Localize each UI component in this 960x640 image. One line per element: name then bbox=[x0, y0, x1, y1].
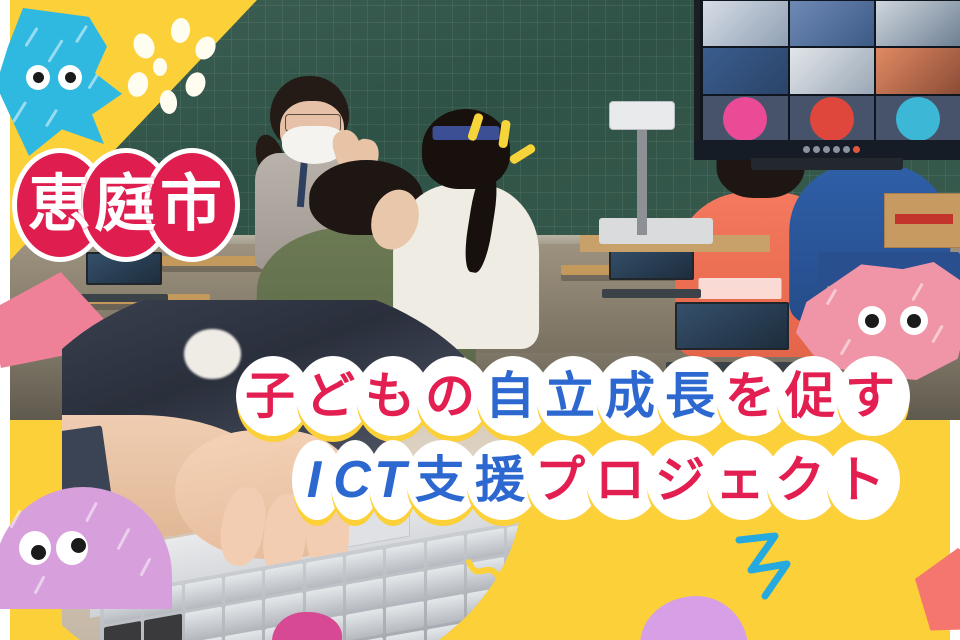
title-char: 自 bbox=[476, 356, 544, 436]
purple-arch-eye bbox=[19, 531, 51, 565]
title-line-2: I C T 支 援 プ ロ ジ ェ ク ト bbox=[292, 440, 952, 520]
badge-character: 市 bbox=[152, 153, 230, 257]
title-char: 促 bbox=[776, 356, 844, 436]
student-figure bbox=[390, 109, 542, 344]
title-char: プ bbox=[526, 440, 594, 520]
title-char: ジ bbox=[646, 440, 714, 520]
video-tile-avatar bbox=[876, 96, 960, 142]
title-char: T bbox=[368, 440, 412, 520]
title-line-1: 子 ど も の 自 立 成 長 を 促 す bbox=[236, 356, 952, 436]
video-tile bbox=[790, 1, 875, 47]
thumbnail-canvas: 恵 庭 市 子 ど も の 自 立 成 長 を 促 す I C T bbox=[0, 0, 960, 640]
video-tile bbox=[876, 48, 960, 94]
title-char: 援 bbox=[466, 440, 534, 520]
title-char: 長 bbox=[656, 356, 724, 436]
badge-character-label: 市 bbox=[160, 174, 222, 236]
cardboard-box bbox=[884, 193, 960, 248]
student-laptop bbox=[86, 252, 162, 302]
white-highlight bbox=[184, 329, 240, 379]
document-camera-head bbox=[609, 101, 676, 130]
title-char: ど bbox=[296, 356, 364, 436]
city-badge: 恵 庭 市 bbox=[14, 152, 224, 258]
video-conference-toolbar bbox=[694, 140, 960, 159]
video-tile-avatar bbox=[703, 96, 788, 142]
title-char: ク bbox=[766, 440, 834, 520]
title-char: 支 bbox=[406, 440, 474, 520]
video-tile bbox=[790, 48, 875, 94]
title-char: も bbox=[356, 356, 424, 436]
yellow-squiggle-mark bbox=[466, 556, 512, 590]
pink-cloud-eye bbox=[900, 306, 928, 335]
video-tile bbox=[703, 48, 788, 94]
title-char: ロ bbox=[586, 440, 654, 520]
title-char: す bbox=[836, 356, 904, 436]
student-hairband bbox=[433, 126, 500, 140]
title-char: 立 bbox=[536, 356, 604, 436]
title-char: の bbox=[416, 356, 484, 436]
badge-character-label: 庭 bbox=[94, 174, 156, 236]
title-char: 成 bbox=[596, 356, 664, 436]
document-camera-base bbox=[599, 218, 713, 243]
pink-cloud-eye bbox=[858, 306, 886, 335]
badge-character-label: 恵 bbox=[28, 174, 90, 236]
purple-arch-eye bbox=[56, 531, 88, 565]
blue-zigzag-mark bbox=[735, 530, 807, 602]
video-conference-display bbox=[694, 0, 960, 151]
title-char: ト bbox=[826, 440, 894, 520]
title-char: を bbox=[716, 356, 784, 436]
blue-star-eye bbox=[58, 65, 82, 90]
blue-star-eye bbox=[26, 65, 50, 90]
student-head bbox=[422, 109, 510, 189]
title-char: 子 bbox=[236, 356, 304, 436]
title-char: C bbox=[330, 440, 374, 520]
video-tile bbox=[703, 1, 788, 47]
video-tile bbox=[876, 1, 960, 47]
video-tile-avatar bbox=[790, 96, 875, 142]
display-stand bbox=[751, 158, 903, 171]
title-char: ェ bbox=[706, 440, 774, 520]
shirt-print bbox=[699, 278, 781, 300]
main-title: 子 ど も の 自 立 成 長 を 促 す I C T 支 援 プ ロ ジ ェ … bbox=[236, 356, 952, 524]
white-seed-dots bbox=[153, 58, 167, 76]
